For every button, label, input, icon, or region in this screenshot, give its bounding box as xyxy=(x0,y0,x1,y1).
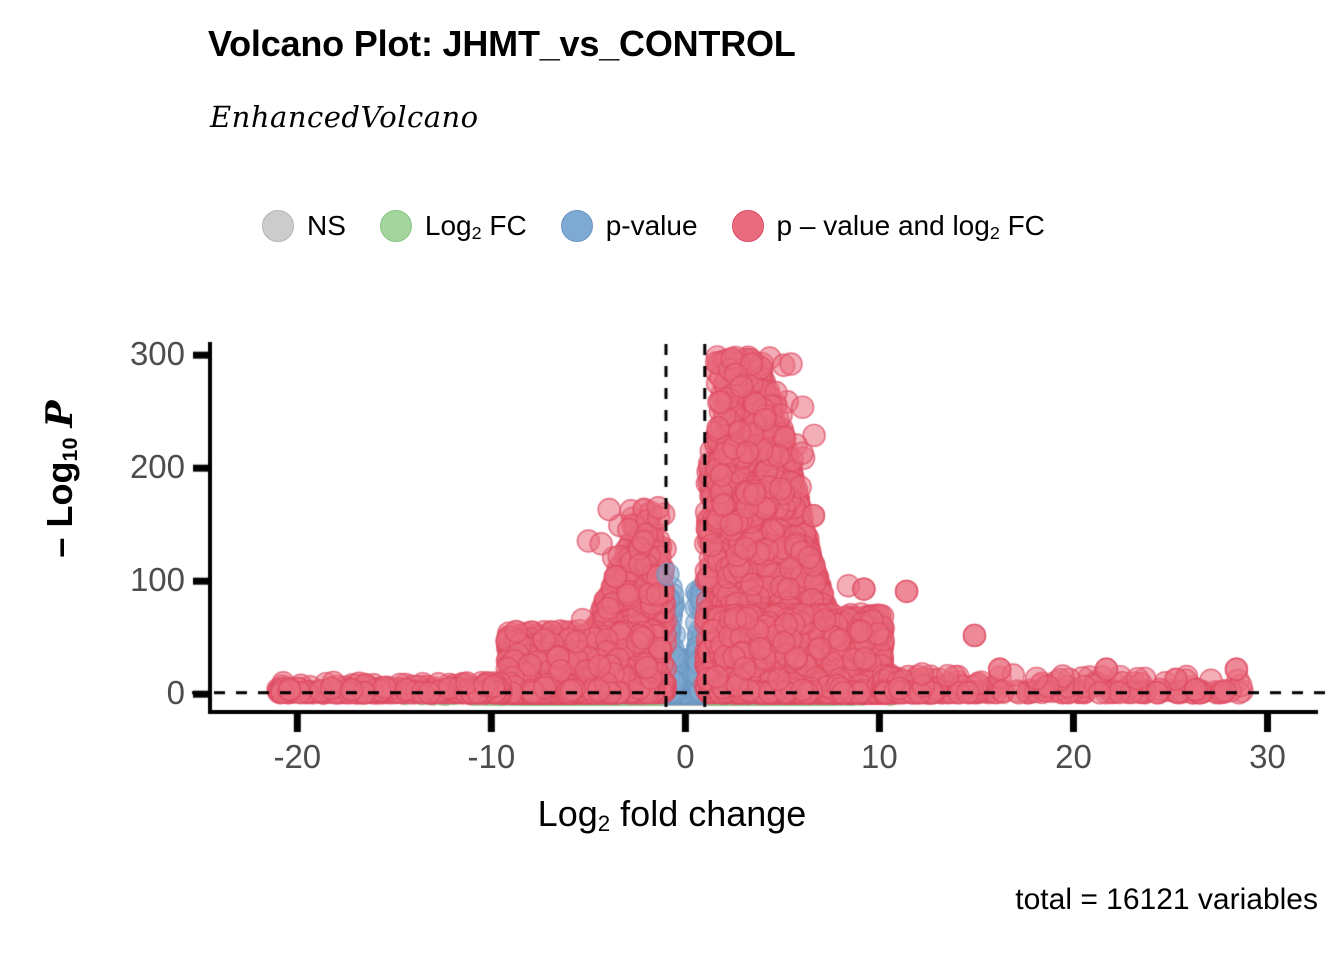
x-axis-tick-label: -20 xyxy=(237,740,357,773)
total-variables-caption: total = 16121 variables xyxy=(1015,885,1318,915)
volcano-plot-figure: Volcano Plot: JHMT_vs_CONTROL EnhancedVo… xyxy=(0,0,1344,960)
y-axis-tick-label: 0 xyxy=(0,676,185,709)
x-axis-tick-label: 0 xyxy=(625,740,745,773)
y-axis-title: – Log10 P xyxy=(39,269,81,689)
x-axis-tick-label: 20 xyxy=(1013,740,1133,773)
x-axis-tick-label: 30 xyxy=(1207,740,1327,773)
x-axis-tick-label: 10 xyxy=(819,740,939,773)
y-axis-tick-label: 300 xyxy=(0,337,185,370)
y-axis-tick-label: 200 xyxy=(0,450,185,483)
x-axis-tick-label: -10 xyxy=(431,740,551,773)
x-axis-title: Log2 fold change xyxy=(0,793,1344,835)
y-axis-tick-label: 100 xyxy=(0,563,185,596)
